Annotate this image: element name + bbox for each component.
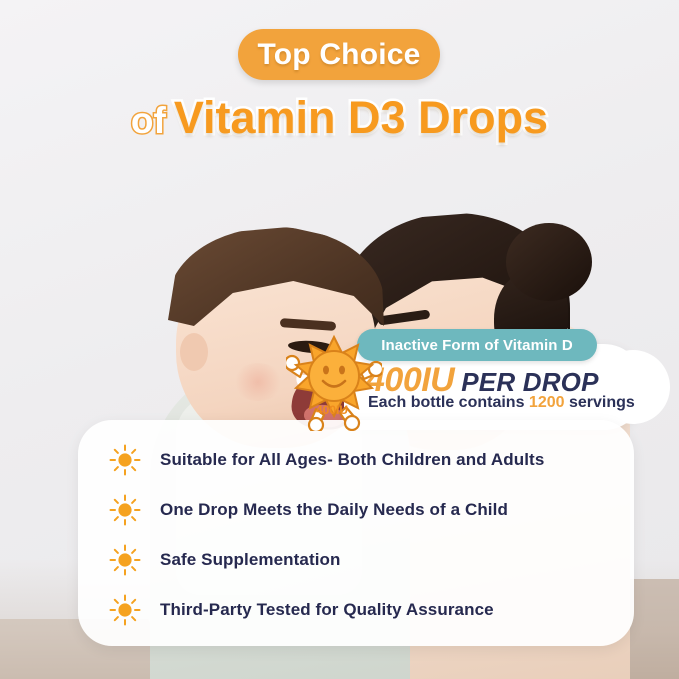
mother-hair-bun [506, 223, 592, 301]
benefit-label: Safe Supplementation [160, 550, 341, 570]
sun-icon [108, 443, 142, 477]
top-choice-badge: Top Choice [238, 29, 440, 80]
benefit-label: Suitable for All Ages- Both Children and… [160, 450, 544, 470]
servings-note-prefix: Each bottle contains [368, 394, 524, 411]
top-choice-label: Top Choice [257, 38, 420, 72]
benefit-label: Third-Party Tested for Quality Assurance [160, 600, 494, 620]
benefits-card: Suitable for All Ages- Both Children and… [78, 420, 634, 646]
inactive-form-label: Inactive Form of Vitamin D [381, 337, 573, 354]
inactive-form-badge: Inactive Form of Vitamin D [357, 329, 597, 361]
sun-icon [108, 593, 142, 627]
servings-note-suffix: servings [569, 394, 635, 411]
benefit-label: One Drop Meets the Daily Needs of a Chil… [160, 500, 508, 520]
title-main: Vitamin D3 Drops [174, 92, 548, 143]
servings-note: Each bottle contains 1200 servings [368, 394, 635, 412]
title-prefix: of [131, 100, 166, 141]
benefit-item: Suitable for All Ages- Both Children and… [108, 440, 628, 480]
benefit-item: Third-Party Tested for Quality Assurance [108, 590, 628, 630]
servings-count: 1200 [529, 394, 565, 411]
poster-canvas: Top Choice ofVitamin D3 Drops Inactive F… [0, 0, 679, 679]
sun-icon [108, 543, 142, 577]
sun-icon [108, 493, 142, 527]
benefit-item: One Drop Meets the Daily Needs of a Chil… [108, 490, 628, 530]
mascot-dose-label: 400IU [316, 403, 348, 417]
baby-ear [180, 333, 208, 371]
dose-suffix: PER DROP [461, 367, 598, 397]
baby-cheek [232, 363, 284, 401]
benefit-item: Safe Supplementation [108, 540, 628, 580]
page-title: ofVitamin D3 Drops [0, 92, 679, 144]
